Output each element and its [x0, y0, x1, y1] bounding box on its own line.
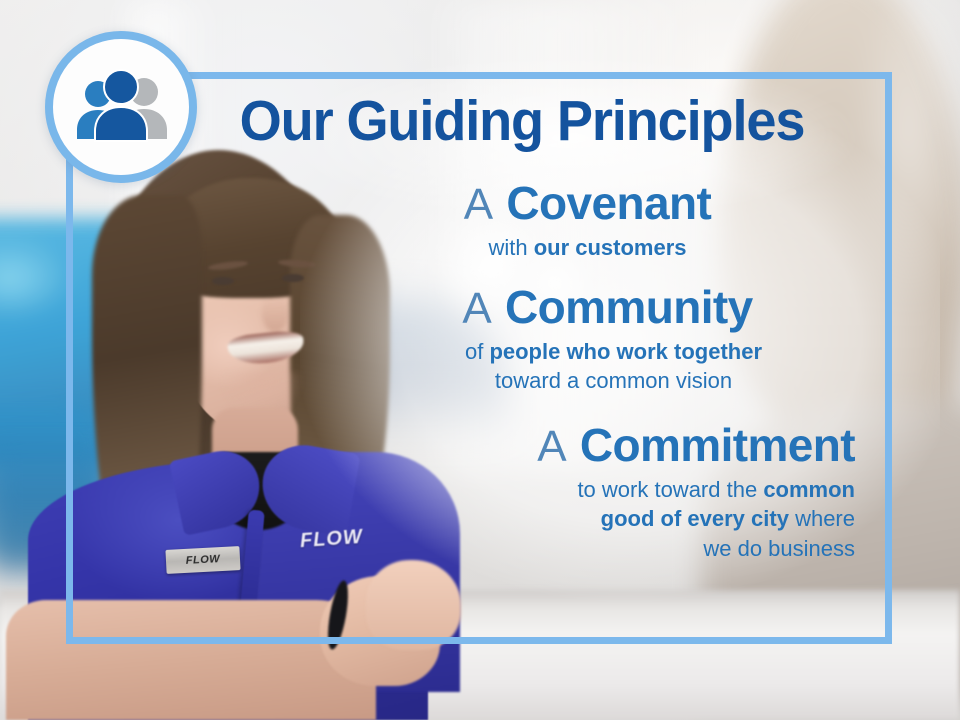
- principle-community: A Community of people who work togethert…: [300, 282, 875, 396]
- employee-hand-upper: [366, 560, 461, 650]
- principle-covenant-heading: A Covenant: [300, 178, 875, 230]
- principle-community-heading: A Community: [300, 282, 875, 334]
- employee-name-badge: FLOW: [165, 546, 240, 574]
- principle-community-subline: of people who work togethertoward a comm…: [300, 337, 875, 396]
- principle-community-article: A: [462, 284, 492, 333]
- employee-eye-left: [212, 277, 234, 285]
- principles-list: A Covenant with our customers A Communit…: [300, 178, 875, 570]
- principle-covenant-subline: with our customers: [300, 233, 875, 263]
- community-sub-bold: people who work together: [489, 339, 762, 364]
- principle-commitment: A Commitment to work toward the commongo…: [300, 420, 875, 564]
- commitment-sub-bold2: good of every city: [601, 506, 789, 531]
- commitment-sub-bold1: common: [763, 477, 855, 502]
- principle-community-keyword: Community: [505, 281, 753, 333]
- guiding-principles-graphic: FLOW FLOW Our Guiding Principles: [0, 0, 960, 720]
- people-group-icon: [69, 68, 173, 146]
- page-title: Our Guiding Principles: [218, 92, 826, 150]
- community-sub-line2: toward a common vision: [495, 368, 732, 393]
- commitment-sub-suffix: where: [789, 506, 855, 531]
- principle-commitment-subline: to work toward the commongood of every c…: [300, 475, 875, 564]
- covenant-sub-bold: our customers: [534, 235, 687, 260]
- people-badge: [45, 31, 197, 183]
- principle-covenant-keyword: Covenant: [506, 177, 711, 229]
- employee-nose: [262, 296, 288, 332]
- principle-covenant-article: A: [464, 180, 494, 229]
- covenant-sub-prefix: with: [488, 235, 533, 260]
- name-badge-logo-text: FLOW: [186, 553, 221, 567]
- commitment-sub-line3: we do business: [703, 536, 855, 561]
- principle-commitment-keyword: Commitment: [580, 419, 855, 471]
- principle-commitment-heading: A Commitment: [300, 420, 875, 472]
- principle-commitment-article: A: [537, 422, 567, 471]
- community-sub-prefix: of: [465, 339, 489, 364]
- commitment-sub-prefix: to work toward the: [577, 477, 763, 502]
- principle-covenant: A Covenant with our customers: [300, 178, 875, 262]
